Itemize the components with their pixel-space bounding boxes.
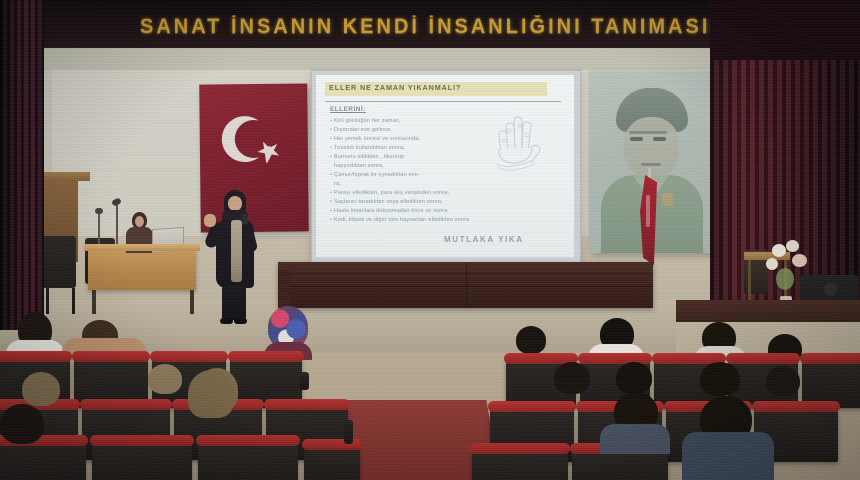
portrait-face <box>624 117 679 179</box>
presenter-shoe <box>220 318 233 324</box>
slide-body: ELLERİNİ: •Kirli gördüğün her zaman, •Dı… <box>330 106 510 225</box>
right-side-wall-band <box>676 300 860 322</box>
presenter-raised-hand <box>204 214 216 227</box>
handheld-microphone-icon <box>242 214 248 225</box>
portrait-mouth <box>641 163 661 166</box>
slide-bullet-cont: hapşırdıktan sonra, <box>330 162 510 171</box>
side-table-leg <box>748 260 751 300</box>
projection-screen: ELLER NE ZAMAN YIKANMALI? <box>311 70 581 264</box>
portrait-medal <box>662 193 673 206</box>
audience-shoulders <box>600 424 670 454</box>
presenter-legs <box>222 286 246 320</box>
slide-bullet: •Tuvaleti kullandıktan sonra, <box>330 144 510 153</box>
portrait-brow <box>629 131 667 134</box>
slide-bullet: •Parayı elledikten, para alış verişinden… <box>330 189 510 198</box>
slide-footer: MUTLAKA YIKA <box>444 235 564 244</box>
presenter-stole <box>231 220 242 282</box>
microphone-head-icon <box>95 208 103 214</box>
seat[interactable] <box>304 444 360 480</box>
presenter-face <box>228 196 242 211</box>
slide-bullet: •Çamur/toprak ile oynadıktan son- <box>330 171 510 180</box>
stage-wood-panel-left <box>278 270 290 308</box>
presenter <box>206 190 262 330</box>
slide-bullet: •Her yemek öncesi ve sonrasında, <box>330 135 510 144</box>
desk-leg <box>92 290 96 314</box>
audience-head <box>616 362 652 394</box>
stage-curtain-right-top <box>710 0 860 60</box>
seat[interactable] <box>0 440 86 480</box>
slide-surface: ELLER NE ZAMAN YIKANMALI? <box>316 75 574 257</box>
seat-armrest <box>300 372 309 390</box>
audience-head <box>0 404 44 444</box>
presenter-desk <box>88 248 196 290</box>
stage-chair-leg <box>46 288 49 314</box>
audience-head <box>516 326 546 354</box>
flower-bloom <box>786 240 799 252</box>
host-face <box>135 216 144 227</box>
slide-bullet: •Dışarıdan eve gelince, <box>330 126 510 135</box>
stage-chair-leg <box>72 288 75 314</box>
stage-curtain-left <box>0 0 44 330</box>
audience-head <box>188 370 234 418</box>
slide-lead: ELLERİNİ: <box>330 106 510 113</box>
seat[interactable] <box>472 448 568 480</box>
slide-bullet: •Kirli gördüğün her zaman, <box>330 117 510 126</box>
wall-banner-text: SANAT İNSANIN KENDİ İNSANLIĞINI TANIMASI… <box>140 15 760 42</box>
slide-bullet: •Kedi, köpek ve diğer tüm hayvanları ell… <box>330 216 510 225</box>
desk-leg <box>190 290 194 314</box>
desk-top <box>84 244 200 251</box>
seat-armrest <box>344 420 353 444</box>
stage-chair <box>42 236 76 288</box>
auditorium-photo: SANAT İNSANIN KENDİ İNSANLIĞINI TANIMASI… <box>0 0 860 480</box>
flower-bloom <box>792 254 807 267</box>
audience-shoulders <box>682 432 774 480</box>
audience-head <box>554 362 590 394</box>
portrait-eye-left <box>630 137 643 141</box>
stage-wood-panel <box>278 262 653 308</box>
audience-head <box>22 372 60 406</box>
audience-head <box>148 364 182 394</box>
presenter-shoe <box>234 318 247 324</box>
slide-divider <box>325 101 561 102</box>
slide-bullet: •Saçlarını taradıktan veya elledikten so… <box>330 198 510 207</box>
seat[interactable] <box>198 440 298 480</box>
slide-bullet: •Burnunu sildikten , öksürüp <box>330 153 510 162</box>
furled-flag-highlight <box>646 195 650 227</box>
slide-bullet: •Hasta insanlara dokunmadan önce ve sonr… <box>330 207 510 216</box>
speaker-tweeter <box>824 283 837 296</box>
slide-title: ELLER NE ZAMAN YIKANMALI? <box>329 83 549 92</box>
slide-bullet-cont: ra, <box>330 180 510 189</box>
flower-bloom <box>766 258 778 270</box>
flower-bloom <box>772 244 786 257</box>
audience-head <box>766 366 800 396</box>
audience-head <box>700 362 740 396</box>
portrait-eye-right <box>653 137 666 141</box>
seat[interactable] <box>92 440 192 480</box>
flower-leaf <box>776 268 794 290</box>
